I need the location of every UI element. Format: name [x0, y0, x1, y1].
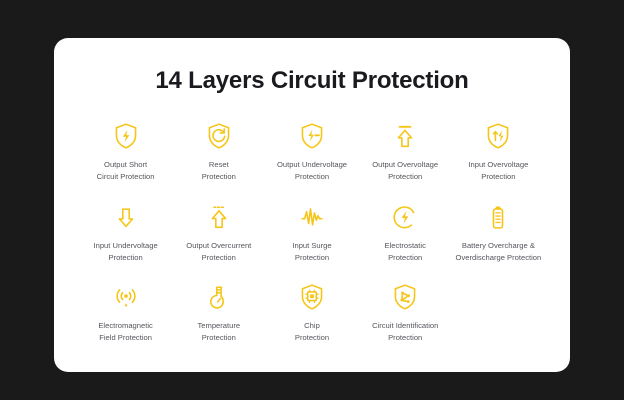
arrow-down-undervoltage-icon [109, 201, 143, 233]
protection-item: Output Overvoltage Protection [360, 120, 451, 183]
protection-label: Temperature Protection [197, 320, 240, 344]
protection-item: Circuit Identification Protection [360, 281, 451, 344]
arrow-up-overvoltage-icon [388, 120, 422, 152]
arrow-up-overcurrent-icon [202, 201, 236, 233]
protection-label: Input Surge Protection [292, 240, 331, 264]
protection-label: Output Overvoltage Protection [372, 159, 438, 183]
protection-item: Electrostatic Protection [360, 201, 451, 264]
protection-label: Output Short Circuit Protection [97, 159, 155, 183]
electromagnetic-wave-icon [109, 281, 143, 313]
protection-label: Chip Protection [295, 320, 329, 344]
protection-label: Input Overvoltage Protection [468, 159, 528, 183]
shield-circuit-node-icon [388, 281, 422, 313]
shield-bolt-minus-icon [295, 120, 329, 152]
protection-item: Battery Overcharge & Overdischarge Prote… [453, 201, 544, 264]
protection-label: Battery Overcharge & Overdischarge Prote… [456, 240, 542, 264]
protection-item: Input Overvoltage Protection [453, 120, 544, 183]
surge-waveform-icon [295, 201, 329, 233]
protection-item: Temperature Protection [173, 281, 264, 344]
protection-label: Reset Protection [202, 159, 236, 183]
protection-label: Output Overcurrent Protection [186, 240, 251, 264]
shield-chip-icon [295, 281, 329, 313]
protection-label: Output Undervoltage Protection [277, 159, 347, 183]
protection-label: Input Undervoltage Protection [94, 240, 158, 264]
protection-item: Output Short Circuit Protection [80, 120, 171, 183]
protection-label: Electrostatic Protection [385, 240, 426, 264]
shield-bolt-icon [109, 120, 143, 152]
protection-item: Output Undervoltage Protection [266, 120, 357, 183]
battery-icon [481, 201, 515, 233]
screenshot-canvas: 14 Layers Circuit Protection Output Shor… [0, 0, 624, 400]
protection-item: Input Surge Protection [266, 201, 357, 264]
protection-item: Reset Protection [173, 120, 264, 183]
protection-item: Output Overcurrent Protection [173, 201, 264, 264]
protection-label: Electromagnetic Field Protection [98, 320, 152, 344]
shield-bolt-arrow-up-icon [481, 120, 515, 152]
protection-item: Chip Protection [266, 281, 357, 344]
protection-item: Input Undervoltage Protection [80, 201, 171, 264]
shield-reset-icon [202, 120, 236, 152]
protection-item: Electromagnetic Field Protection [80, 281, 171, 344]
protection-card: 14 Layers Circuit Protection Output Shor… [54, 38, 570, 372]
circle-bolt-electrostatic-icon [388, 201, 422, 233]
page-title: 14 Layers Circuit Protection [80, 68, 544, 94]
protection-label: Circuit Identification Protection [372, 320, 438, 344]
thermometer-icon [202, 281, 236, 313]
protection-grid: Output Short Circuit ProtectionReset Pro… [80, 120, 544, 344]
